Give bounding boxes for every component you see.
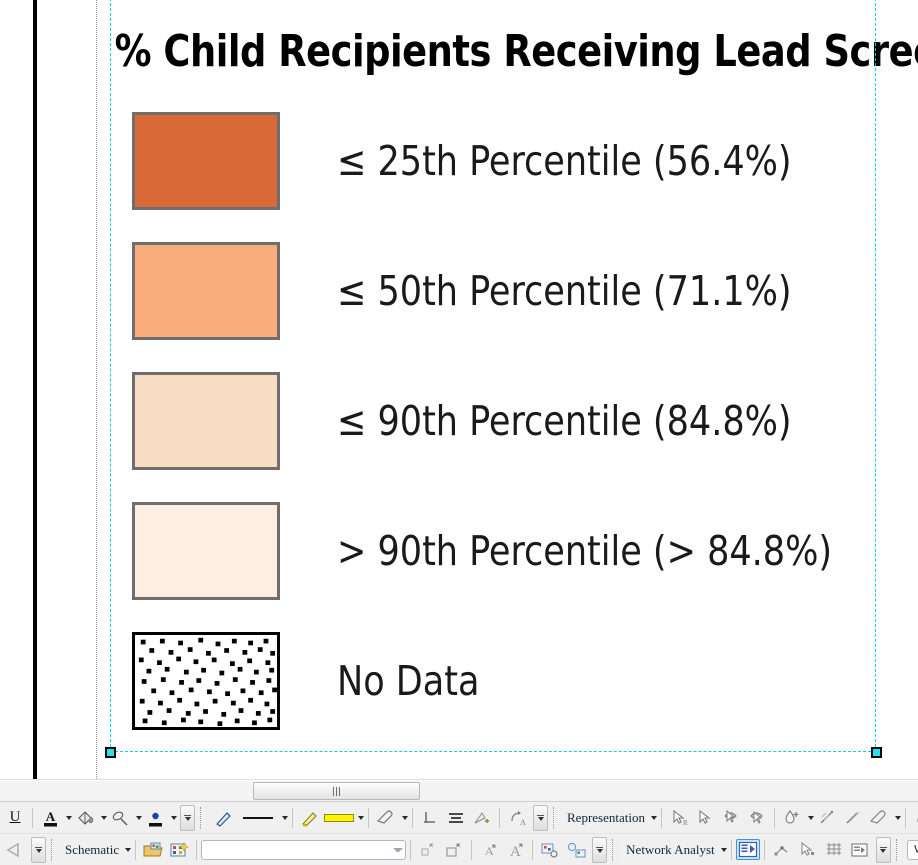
chevron-down-icon[interactable] (393, 848, 403, 852)
legend-label: No Data (337, 661, 479, 702)
lasso-icon (721, 808, 741, 828)
network-select-icon (797, 840, 819, 860)
clear-effects-button[interactable] (866, 806, 892, 830)
representation-fill-button[interactable] (779, 806, 805, 830)
coordinate-system-value: World C (914, 842, 918, 857)
effect-geometry-alt-button[interactable] (840, 806, 866, 830)
svg-text:A: A (45, 809, 55, 824)
legend-label: ≤ 90th Percentile (84.8%) (337, 401, 792, 442)
paint-bucket-icon (75, 808, 95, 828)
diagram-update-icon (565, 840, 587, 860)
swatch-25th-percentile (132, 112, 280, 210)
toolbar-separator (661, 808, 662, 828)
horizontal-scrollbar[interactable] (0, 779, 918, 803)
effect-geometry-button[interactable] (814, 806, 840, 830)
eraser-icon (375, 808, 397, 828)
chevron-down-icon[interactable] (895, 816, 901, 820)
scale-marker-icon (418, 840, 438, 860)
schematic-properties-button[interactable] (537, 838, 563, 862)
highlight-color-chip[interactable] (324, 814, 354, 822)
highlighter-button[interactable] (297, 806, 323, 830)
scrollbar-thumb[interactable] (253, 782, 420, 800)
scale-box-icon (444, 840, 464, 860)
menu-schematic[interactable]: Schematic (62, 842, 122, 858)
select-network-location-button[interactable] (795, 838, 821, 862)
legend-label: ≤ 50th Percentile (71.1%) (337, 271, 792, 312)
legend-label: ≤ 25th Percentile (56.4%) (337, 141, 792, 182)
dot-pattern-icon (135, 635, 277, 727)
align-bottom-icon (420, 808, 440, 828)
coordinate-system-combo[interactable]: World C (907, 840, 918, 860)
pencil-line-icon (214, 808, 234, 828)
lasso-alt-icon (747, 808, 767, 828)
toolbar-separator (368, 808, 369, 828)
create-network-location-button[interactable] (769, 838, 795, 862)
menu-representation[interactable]: Representation (564, 810, 648, 826)
diagram-properties-icon (539, 840, 561, 860)
directions-window-button[interactable] (847, 838, 873, 862)
toolbar-separator (135, 840, 136, 860)
open-folder-icon (142, 840, 164, 860)
layout-canvas[interactable]: % Child Recipients Receiving Lead Screen… (0, 0, 918, 779)
new-schematic-diagram-button[interactable] (166, 838, 192, 862)
line-color-button[interactable] (107, 806, 133, 830)
chevron-down-icon[interactable] (402, 816, 408, 820)
legend-row[interactable]: ≤ 50th Percentile (71.1%) (132, 226, 876, 356)
chevron-down-icon[interactable] (171, 816, 177, 820)
toolbar-overflow-button-5[interactable] (592, 837, 607, 863)
legend-row[interactable]: ≤ 25th Percentile (56.4%) (132, 96, 876, 226)
open-schematic-dataset-button[interactable] (140, 838, 166, 862)
rotate-arrow-icon: A (507, 808, 527, 828)
swatch-90th-percentile (132, 372, 280, 470)
legend-row[interactable]: No Data (132, 616, 876, 746)
toolbar-separator (410, 840, 411, 860)
network-location-icon (771, 840, 793, 860)
underline-button[interactable]: U (2, 806, 28, 830)
direct-select-button[interactable] (692, 806, 718, 830)
toolbar-overflow-button-2[interactable] (533, 805, 548, 831)
swatch-above-90th-percentile (132, 502, 280, 600)
toolbar-separator (499, 808, 500, 828)
selection-handle-bottom-right[interactable] (871, 747, 882, 758)
cursor-arrow-icon (696, 808, 714, 828)
legend-label: > 90th Percentile (> 84.8%) (337, 531, 832, 572)
legend-title: % Child Recipients Receiving Lead Screen… (110, 0, 822, 74)
arcmap-layout-window: % Child Recipients Receiving Lead Screen… (0, 0, 918, 865)
font-color-button[interactable]: A (37, 806, 63, 830)
increase-text-size-button[interactable]: A (502, 838, 528, 862)
chevron-down-icon[interactable] (358, 816, 364, 820)
decrease-text-size-button[interactable]: A (476, 838, 502, 862)
swatch-50th-percentile (132, 242, 280, 340)
marker-plus-icon (782, 808, 802, 828)
page-edge-bar (33, 0, 37, 779)
chevron-down-icon[interactable] (651, 816, 657, 820)
toolbar-separator (532, 840, 533, 860)
chevron-down-icon[interactable] (282, 816, 288, 820)
toolbar-drag-grip[interactable] (896, 839, 903, 861)
point-marker-icon (147, 808, 164, 828)
legend-element[interactable]: % Child Recipients Receiving Lead Screen… (110, 0, 876, 746)
font-color-icon: A (42, 808, 59, 828)
toolbar-separator (32, 808, 33, 828)
swatch-no-data (132, 632, 280, 730)
distribute-icon (446, 808, 466, 828)
toolbar-overflow-button-6[interactable] (876, 837, 891, 863)
chevron-down-icon[interactable] (125, 848, 131, 852)
font-increase-icon: A (504, 840, 526, 860)
erase-style-button[interactable] (373, 806, 399, 830)
toolbar-dock: U A (0, 801, 918, 865)
toolbar-separator (412, 808, 413, 828)
legend-item-list: ≤ 25th Percentile (56.4%) ≤ 50th Percent… (110, 96, 876, 746)
svg-text:A: A (485, 844, 494, 858)
toolbar-overflow-button-4[interactable] (31, 837, 46, 863)
marker-color-button[interactable] (142, 806, 168, 830)
legend-row[interactable]: ≤ 90th Percentile (84.8%) (132, 356, 876, 486)
left-arrow-icon (4, 840, 26, 860)
toolbar-drag-grip[interactable] (51, 839, 58, 861)
line-style-preview[interactable] (237, 806, 279, 830)
rotate-text-button[interactable]: A (504, 806, 530, 830)
menu-network-analyst[interactable]: Network Analyst (623, 842, 717, 858)
underline-icon: U (10, 809, 21, 826)
pen-icon (110, 808, 130, 828)
lasso-select-alt-button[interactable] (744, 806, 770, 830)
toolbar-drag-grip[interactable] (200, 807, 207, 829)
distribute-button[interactable] (443, 806, 469, 830)
layout-guide-line (96, 0, 97, 779)
toolbar-drag-grip[interactable] (553, 807, 560, 829)
rotate-group-button[interactable] (469, 806, 495, 830)
fill-color-button[interactable] (72, 806, 98, 830)
group-rotate-icon (472, 808, 492, 828)
schematic-diagram-icon (168, 840, 190, 860)
chevron-down-icon[interactable] (721, 848, 727, 852)
lasso-select-button[interactable] (718, 806, 744, 830)
directions-icon (849, 840, 871, 860)
toolbar-separator (764, 840, 765, 860)
selection-handle-bottom-left[interactable] (105, 747, 116, 758)
select-representation-button[interactable]: R (666, 806, 692, 830)
draw-line-button[interactable] (211, 806, 237, 830)
scale-marker-button[interactable] (415, 838, 441, 862)
toolbar-row-1: U A (0, 802, 918, 834)
toolbar-row-2: Schematic (0, 834, 918, 865)
cursor-arrow-r-icon: R (670, 808, 688, 828)
schematic-update-button[interactable] (563, 838, 589, 862)
toolbar-separator (731, 840, 732, 860)
toolbar-separator (905, 808, 906, 828)
toolbar-overflow-button-1[interactable] (180, 805, 195, 831)
toolbar-separator (196, 840, 197, 860)
line-style-icon (241, 811, 275, 825)
network-grid-icon (823, 840, 845, 860)
undo-representation-button[interactable] (910, 806, 918, 830)
scrollbar-track[interactable] (0, 781, 918, 800)
geometry-effect-alt-icon (843, 808, 863, 828)
font-decrease-icon: A (479, 840, 499, 860)
toolbar-separator (292, 808, 293, 828)
toolbar-drag-grip[interactable] (612, 839, 619, 861)
svg-text:R: R (683, 819, 688, 827)
highlighter-icon (300, 808, 320, 828)
previous-extent-button[interactable] (2, 838, 28, 862)
align-bottom-button[interactable] (417, 806, 443, 830)
svg-text:A: A (520, 818, 526, 827)
eraser-icon (868, 808, 890, 828)
geometry-effect-icon (817, 808, 837, 828)
toolbar-separator (471, 840, 472, 860)
undo-arc-icon (913, 808, 918, 828)
network-analyst-window-button[interactable] (736, 839, 760, 860)
scale-reference-button[interactable] (441, 838, 467, 862)
scrollbar-grip-icon (333, 787, 340, 796)
build-network-button[interactable] (821, 838, 847, 862)
legend-row[interactable]: > 90th Percentile (> 84.8%) (132, 486, 876, 616)
network-analyst-window-icon (738, 841, 758, 858)
toolbar-separator (774, 808, 775, 828)
schematic-layer-combo[interactable] (201, 840, 406, 860)
